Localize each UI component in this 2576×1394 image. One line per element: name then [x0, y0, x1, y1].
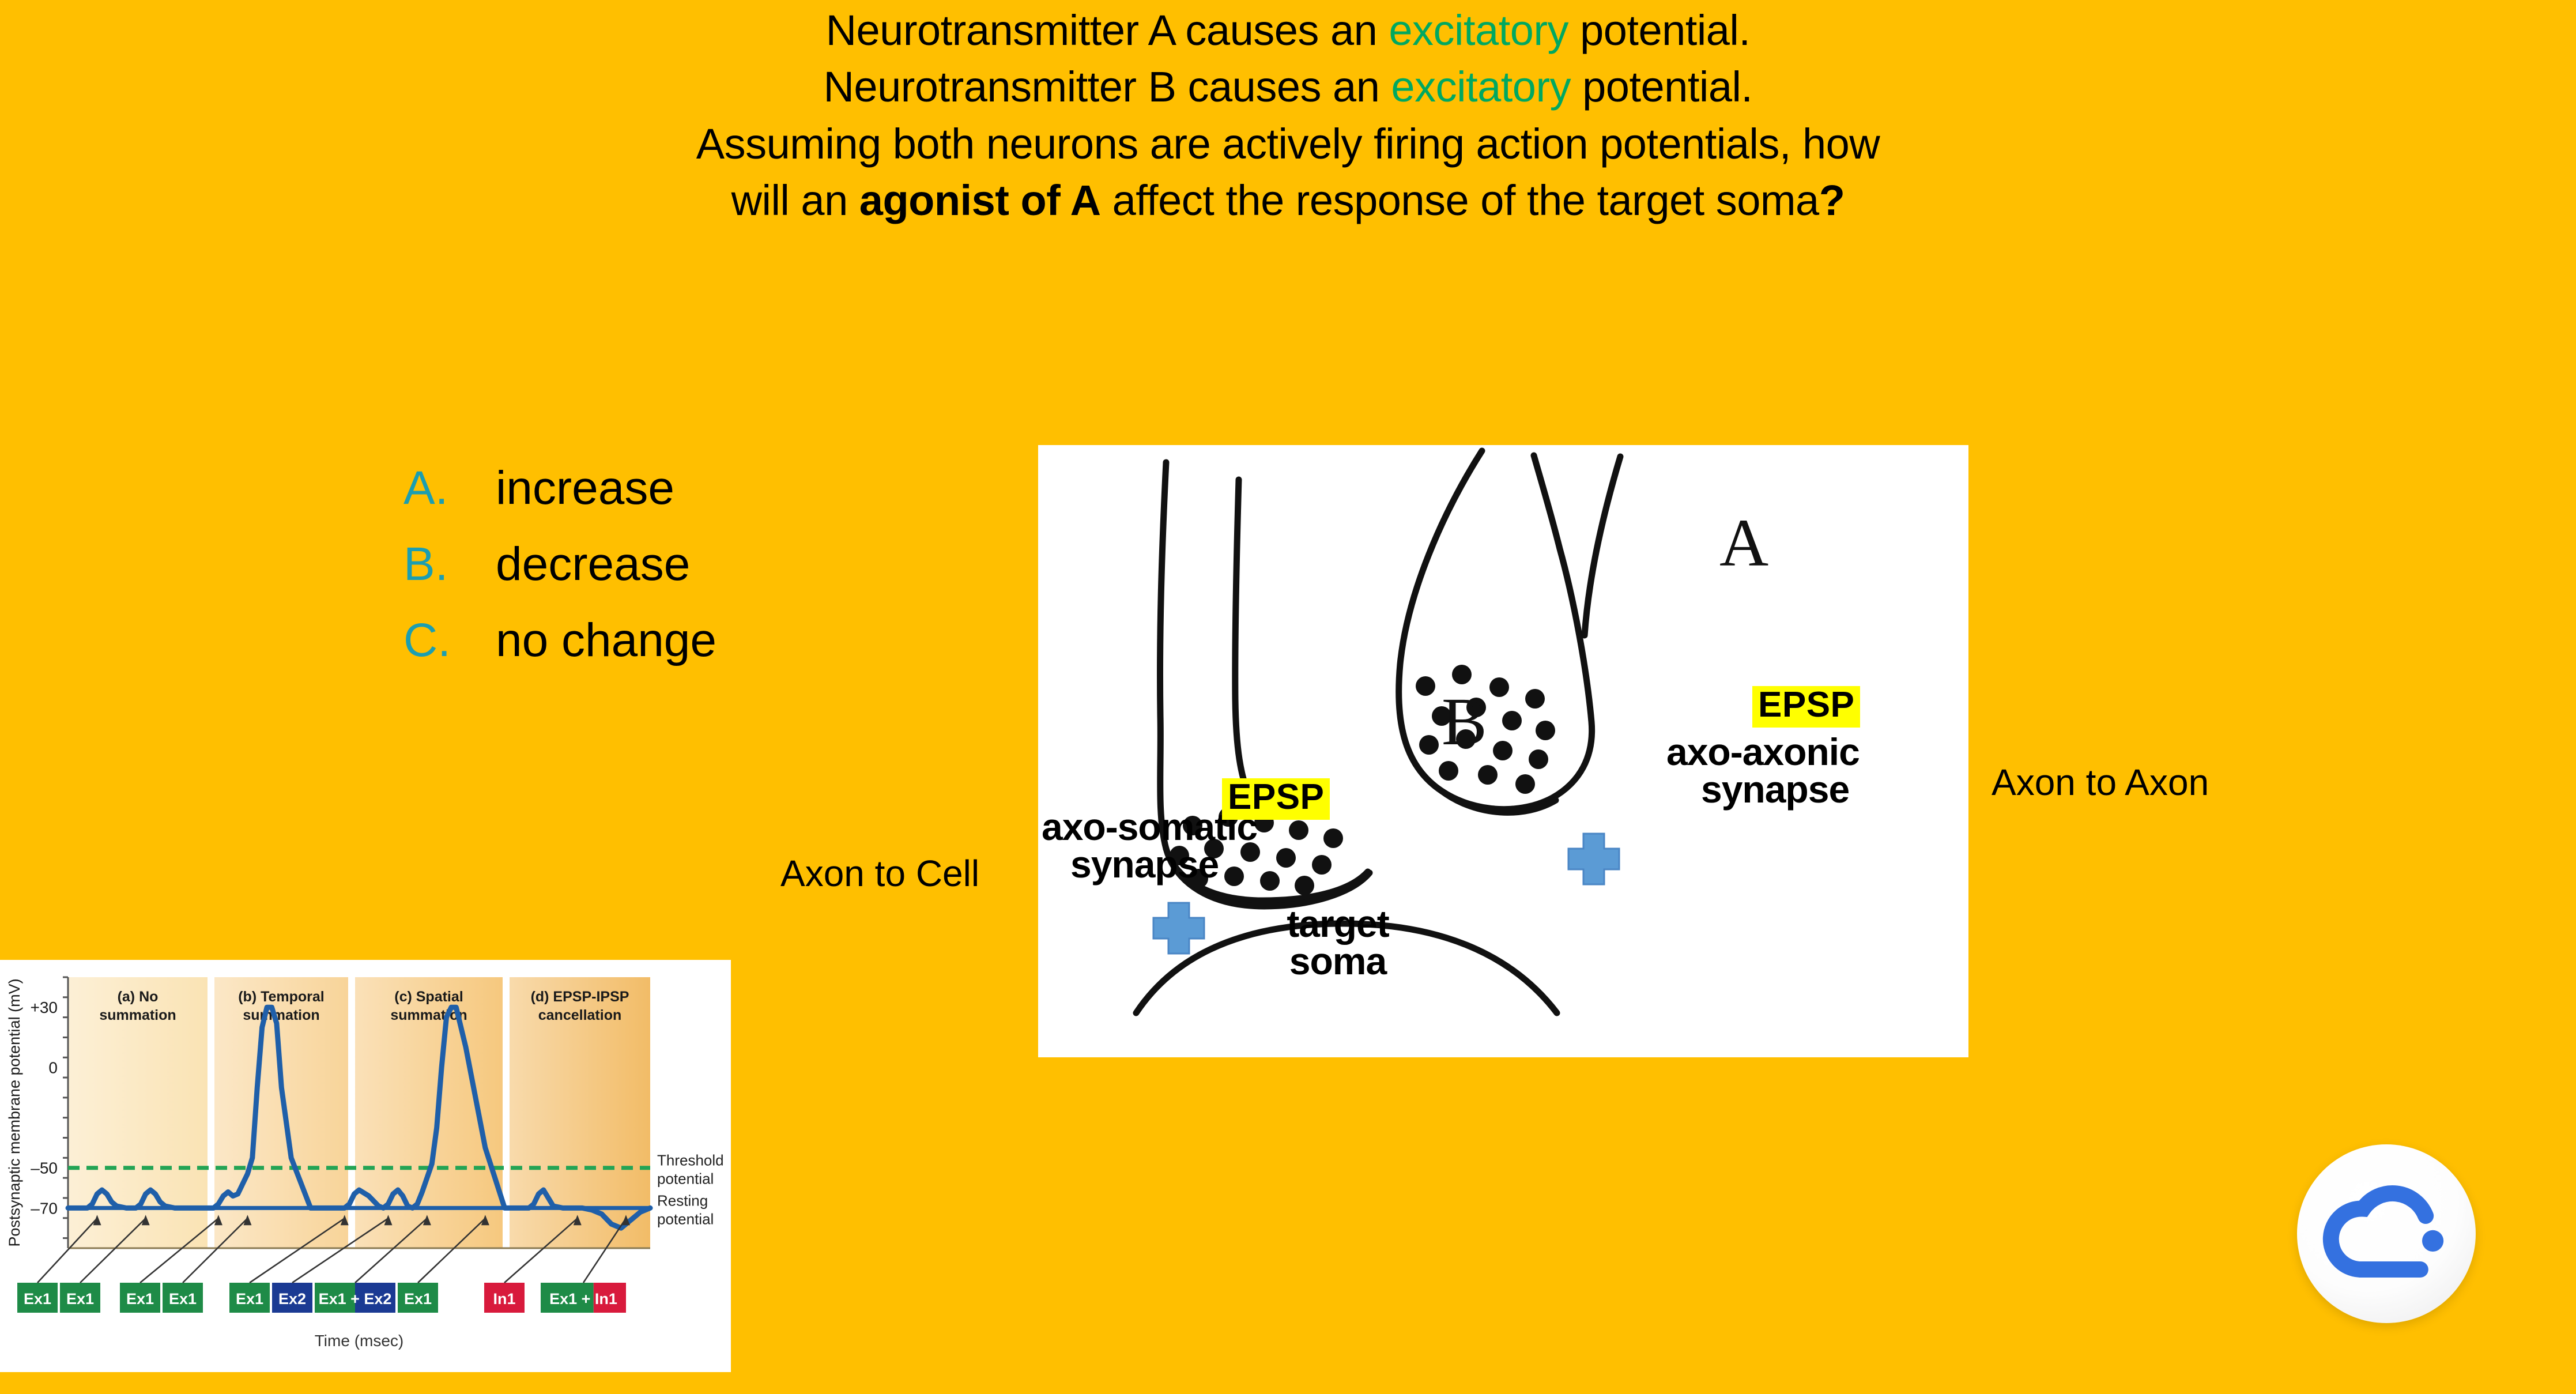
- answer-choice-b[interactable]: B. decrease: [403, 537, 1009, 591]
- stem-line-1: Neurotransmitter A causes an excitatory …: [0, 2, 2576, 59]
- svg-text:(c) Spatial: (c) Spatial: [394, 989, 463, 1005]
- neuron-a-label: A: [1719, 504, 1768, 582]
- svg-text:Ex1: Ex1: [169, 1290, 197, 1308]
- svg-text:Ex1: Ex1: [236, 1290, 263, 1308]
- axo-axonic-synapse-label-line1: axo-axonic: [1666, 733, 1978, 771]
- epsp-badge-axo-axonic: EPSP: [1752, 686, 1860, 728]
- stem-line-2-pre: Neurotransmitter B causes an: [823, 63, 1391, 111]
- svg-text:Ex1: Ex1: [126, 1290, 154, 1308]
- answer-choice-list: A. increase B. decrease C. no change: [403, 461, 1009, 690]
- stem-line-4-mid: affect the response of the target soma: [1101, 176, 1819, 224]
- svg-text:Ex1: Ex1: [24, 1290, 51, 1308]
- stem-line-4-pre: will an: [731, 176, 859, 224]
- answer-choice-a[interactable]: A. increase: [403, 461, 1009, 515]
- cloud-icon: [2297, 1144, 2476, 1323]
- axo-axonic-synapse-label: axo-axonic synapse: [1666, 733, 1978, 808]
- stem-line-2-keyword: excitatory: [1391, 63, 1571, 111]
- answer-choice-b-letter: B.: [403, 537, 496, 591]
- target-soma-label-line1: target: [1223, 905, 1453, 943]
- stem-line-1-post: potential.: [1568, 6, 1750, 54]
- stem-line-2-post: potential.: [1571, 63, 1752, 111]
- svg-text:Ex1 + In1: Ex1 + In1: [549, 1290, 617, 1308]
- svg-text:(b) Temporal: (b) Temporal: [238, 989, 325, 1005]
- stem-line-4-question-mark: ?: [1819, 176, 1845, 224]
- svg-text:potential: potential: [657, 1170, 714, 1188]
- svg-text:–50: –50: [31, 1159, 58, 1177]
- svg-text:Ex2: Ex2: [278, 1290, 306, 1308]
- stem-line-1-pre: Neurotransmitter A causes an: [826, 6, 1389, 54]
- svg-text:–70: –70: [31, 1199, 58, 1217]
- svg-text:potential: potential: [657, 1210, 714, 1227]
- answer-choice-a-letter: A.: [403, 461, 496, 515]
- answer-choice-c-label: no change: [496, 613, 716, 668]
- svg-text:Threshold: Threshold: [657, 1152, 724, 1169]
- svg-text:Postsynaptic membrane potentia: Postsynaptic membrane potential (mV): [6, 978, 23, 1246]
- svg-text:Ex1: Ex1: [66, 1290, 94, 1308]
- answer-choice-c-letter: C.: [403, 613, 496, 668]
- question-stem: Neurotransmitter A causes an excitatory …: [0, 2, 2576, 229]
- stem-line-1-keyword: excitatory: [1389, 6, 1568, 54]
- svg-text:summation: summation: [243, 1007, 319, 1023]
- stem-line-4: will an agonist of A affect the response…: [0, 172, 2576, 229]
- svg-text:Resting: Resting: [657, 1192, 708, 1209]
- stem-line-2: Neurotransmitter B causes an excitatory …: [0, 59, 2576, 115]
- summation-chart: (a) Nosummation(b) Temporalsummation(c) …: [0, 960, 731, 1372]
- axo-somatic-synapse-label-line2: synapse: [1070, 846, 1353, 883]
- svg-text:In1: In1: [493, 1290, 515, 1308]
- plus-sign-axo-somatic-icon: [1153, 903, 1204, 954]
- synapse-diagram-panel: A B axo-axonic synapse axo-somatic synap…: [1038, 445, 1968, 1057]
- svg-text:(a) No: (a) No: [118, 989, 159, 1005]
- stem-line-3: Assuming both neurons are actively firin…: [0, 116, 2576, 172]
- neuron-b-label: B: [1442, 683, 1487, 761]
- svg-text:summation: summation: [99, 1007, 176, 1023]
- answer-choice-b-label: decrease: [496, 537, 690, 591]
- axo-axonic-synapse-label-line2: synapse: [1701, 771, 1978, 808]
- cloud-logo-badge[interactable]: [2297, 1144, 2476, 1323]
- svg-text:Ex1 + Ex2: Ex1 + Ex2: [319, 1290, 392, 1308]
- annotation-axon-to-axon: Axon to Axon: [1992, 761, 2209, 804]
- svg-text:Time (msec): Time (msec): [315, 1332, 404, 1350]
- target-soma-label-line2: soma: [1223, 943, 1453, 980]
- svg-text:cancellation: cancellation: [538, 1007, 622, 1023]
- svg-text:Ex1: Ex1: [404, 1290, 432, 1308]
- answer-choice-c[interactable]: C. no change: [403, 613, 1009, 668]
- stem-line-4-emphasis: agonist of A: [859, 176, 1101, 224]
- plus-sign-axo-axonic-icon: [1568, 834, 1619, 884]
- answer-choice-a-label: increase: [496, 461, 674, 515]
- summation-chart-panel: (a) Nosummation(b) Temporalsummation(c) …: [0, 960, 731, 1372]
- svg-text:+30: +30: [31, 999, 58, 1016]
- svg-text:0: 0: [48, 1059, 58, 1077]
- annotation-axon-to-cell: Axon to Cell: [780, 852, 979, 895]
- target-soma-label: target soma: [1223, 905, 1453, 979]
- epsp-badge-axo-somatic: EPSP: [1222, 778, 1330, 820]
- svg-text:(d) EPSP-IPSP: (d) EPSP-IPSP: [531, 989, 629, 1005]
